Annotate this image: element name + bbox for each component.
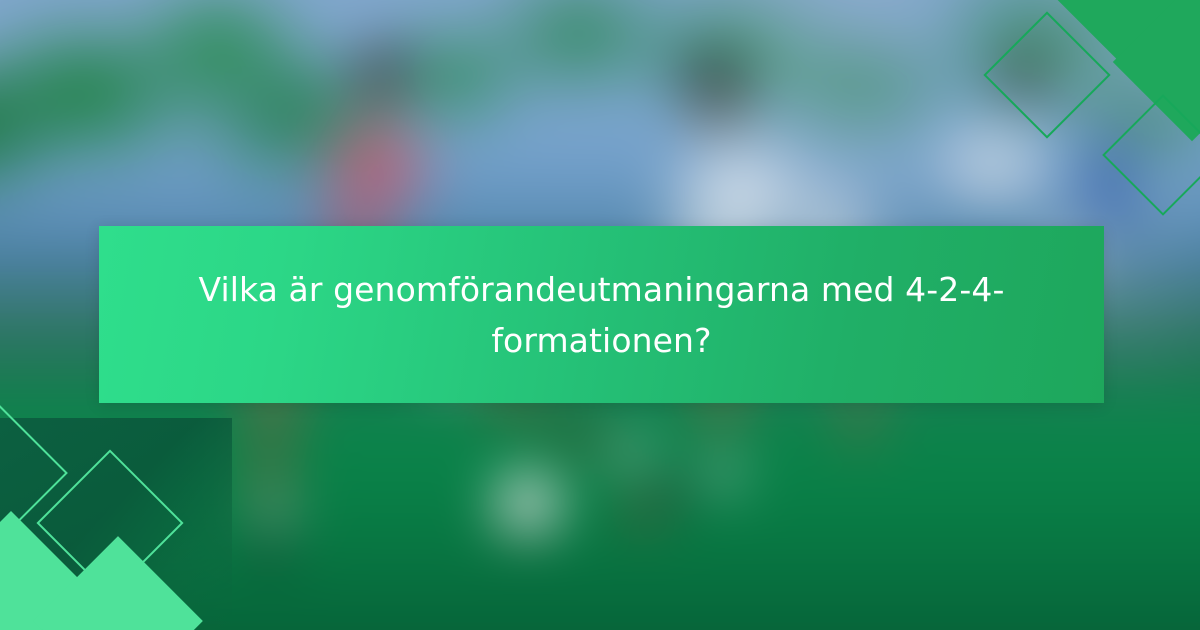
card-title: Vilka är genomförandeutmaningarna med 4-…: [99, 264, 1104, 366]
social-share-card: Vilka är genomförandeutmaningarna med 4-…: [0, 0, 1200, 630]
title-banner: Vilka är genomförandeutmaningarna med 4-…: [99, 226, 1104, 403]
